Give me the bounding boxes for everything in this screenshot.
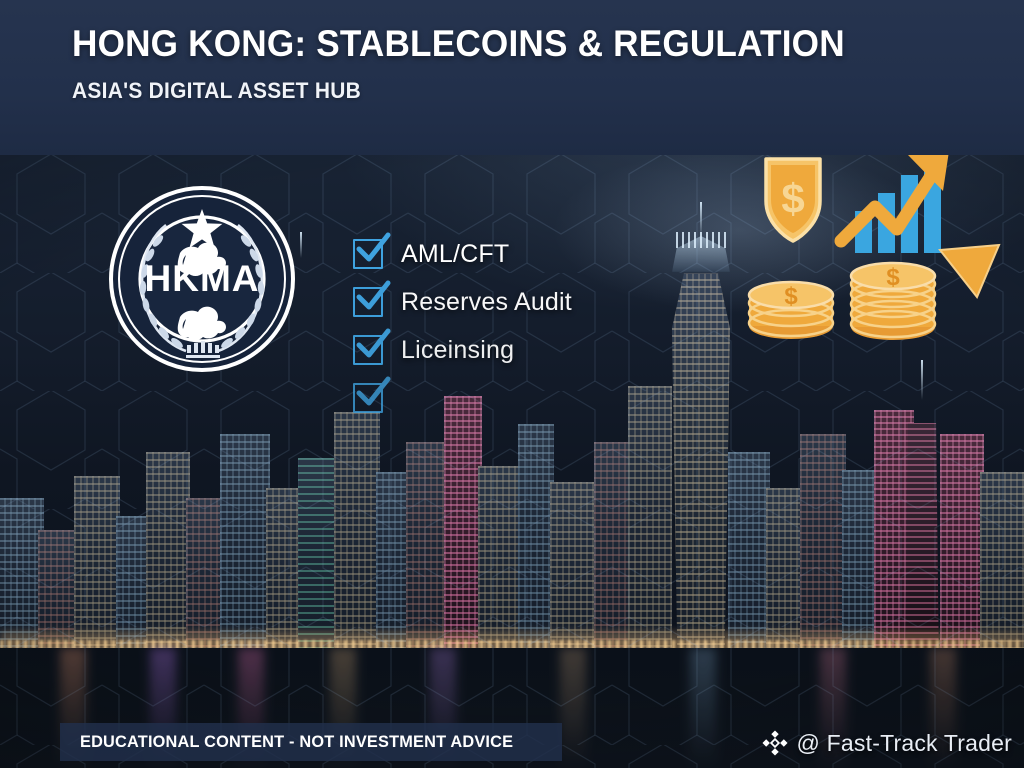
checklist-item[interactable]: AML/CFT [353, 232, 572, 276]
checkbox-checked-icon[interactable] [353, 335, 383, 365]
brand-name: @ Fast-Track Trader [797, 730, 1012, 757]
checklist-item[interactable]: Liceinsing [353, 328, 572, 372]
disclaimer-text: EDUCATIONAL CONTENT - NOT INVESTMENT ADV… [80, 732, 513, 752]
arrow-down-icon [940, 245, 999, 297]
disclaimer-badge: EDUCATIONAL CONTENT - NOT INVESTMENT ADV… [60, 723, 562, 761]
checklist-item[interactable] [353, 376, 572, 420]
ifc-tower [668, 258, 734, 648]
brand-watermark: @ Fast-Track Trader [762, 726, 1012, 760]
page-title: HONG KONG: STABLECOINS & REGULATION [72, 23, 845, 65]
checklist-item-label: Liceinsing [401, 336, 514, 365]
page-subtitle: ASIA'S DIGITAL ASSET HUB [72, 78, 361, 104]
svg-text:$: $ [784, 283, 798, 310]
compliance-checklist: AML/CFT Reserves Audit Liceinsing [353, 232, 572, 424]
checklist-item-label: AML/CFT [401, 240, 509, 269]
checklist-item[interactable]: Reserves Audit [353, 280, 572, 324]
checkbox-checked-icon[interactable] [353, 287, 383, 317]
checklist-item-label: Reserves Audit [401, 288, 572, 317]
hkma-label: HKMA [145, 258, 260, 299]
header-bar: HONG KONG: STABLECOINS & REGULATION ASIA… [0, 0, 1024, 155]
icon-cluster: $ $ [745, 145, 1015, 360]
slide-root: HONG KONG: STABLECOINS & REGULATION ASIA… [0, 0, 1024, 768]
coin-stack-small-icon: $ [749, 282, 833, 339]
hkma-emblem: HKMA [108, 185, 296, 373]
svg-text:$: $ [886, 264, 900, 291]
binance-diamond-logo-icon [762, 730, 788, 756]
coin-stack-large-icon: $ [851, 263, 935, 340]
checkbox-checked-icon[interactable] [353, 383, 383, 413]
checkbox-checked-icon[interactable] [353, 239, 383, 269]
shield-dollar-icon: $ [766, 159, 820, 241]
svg-text:$: $ [781, 175, 804, 222]
